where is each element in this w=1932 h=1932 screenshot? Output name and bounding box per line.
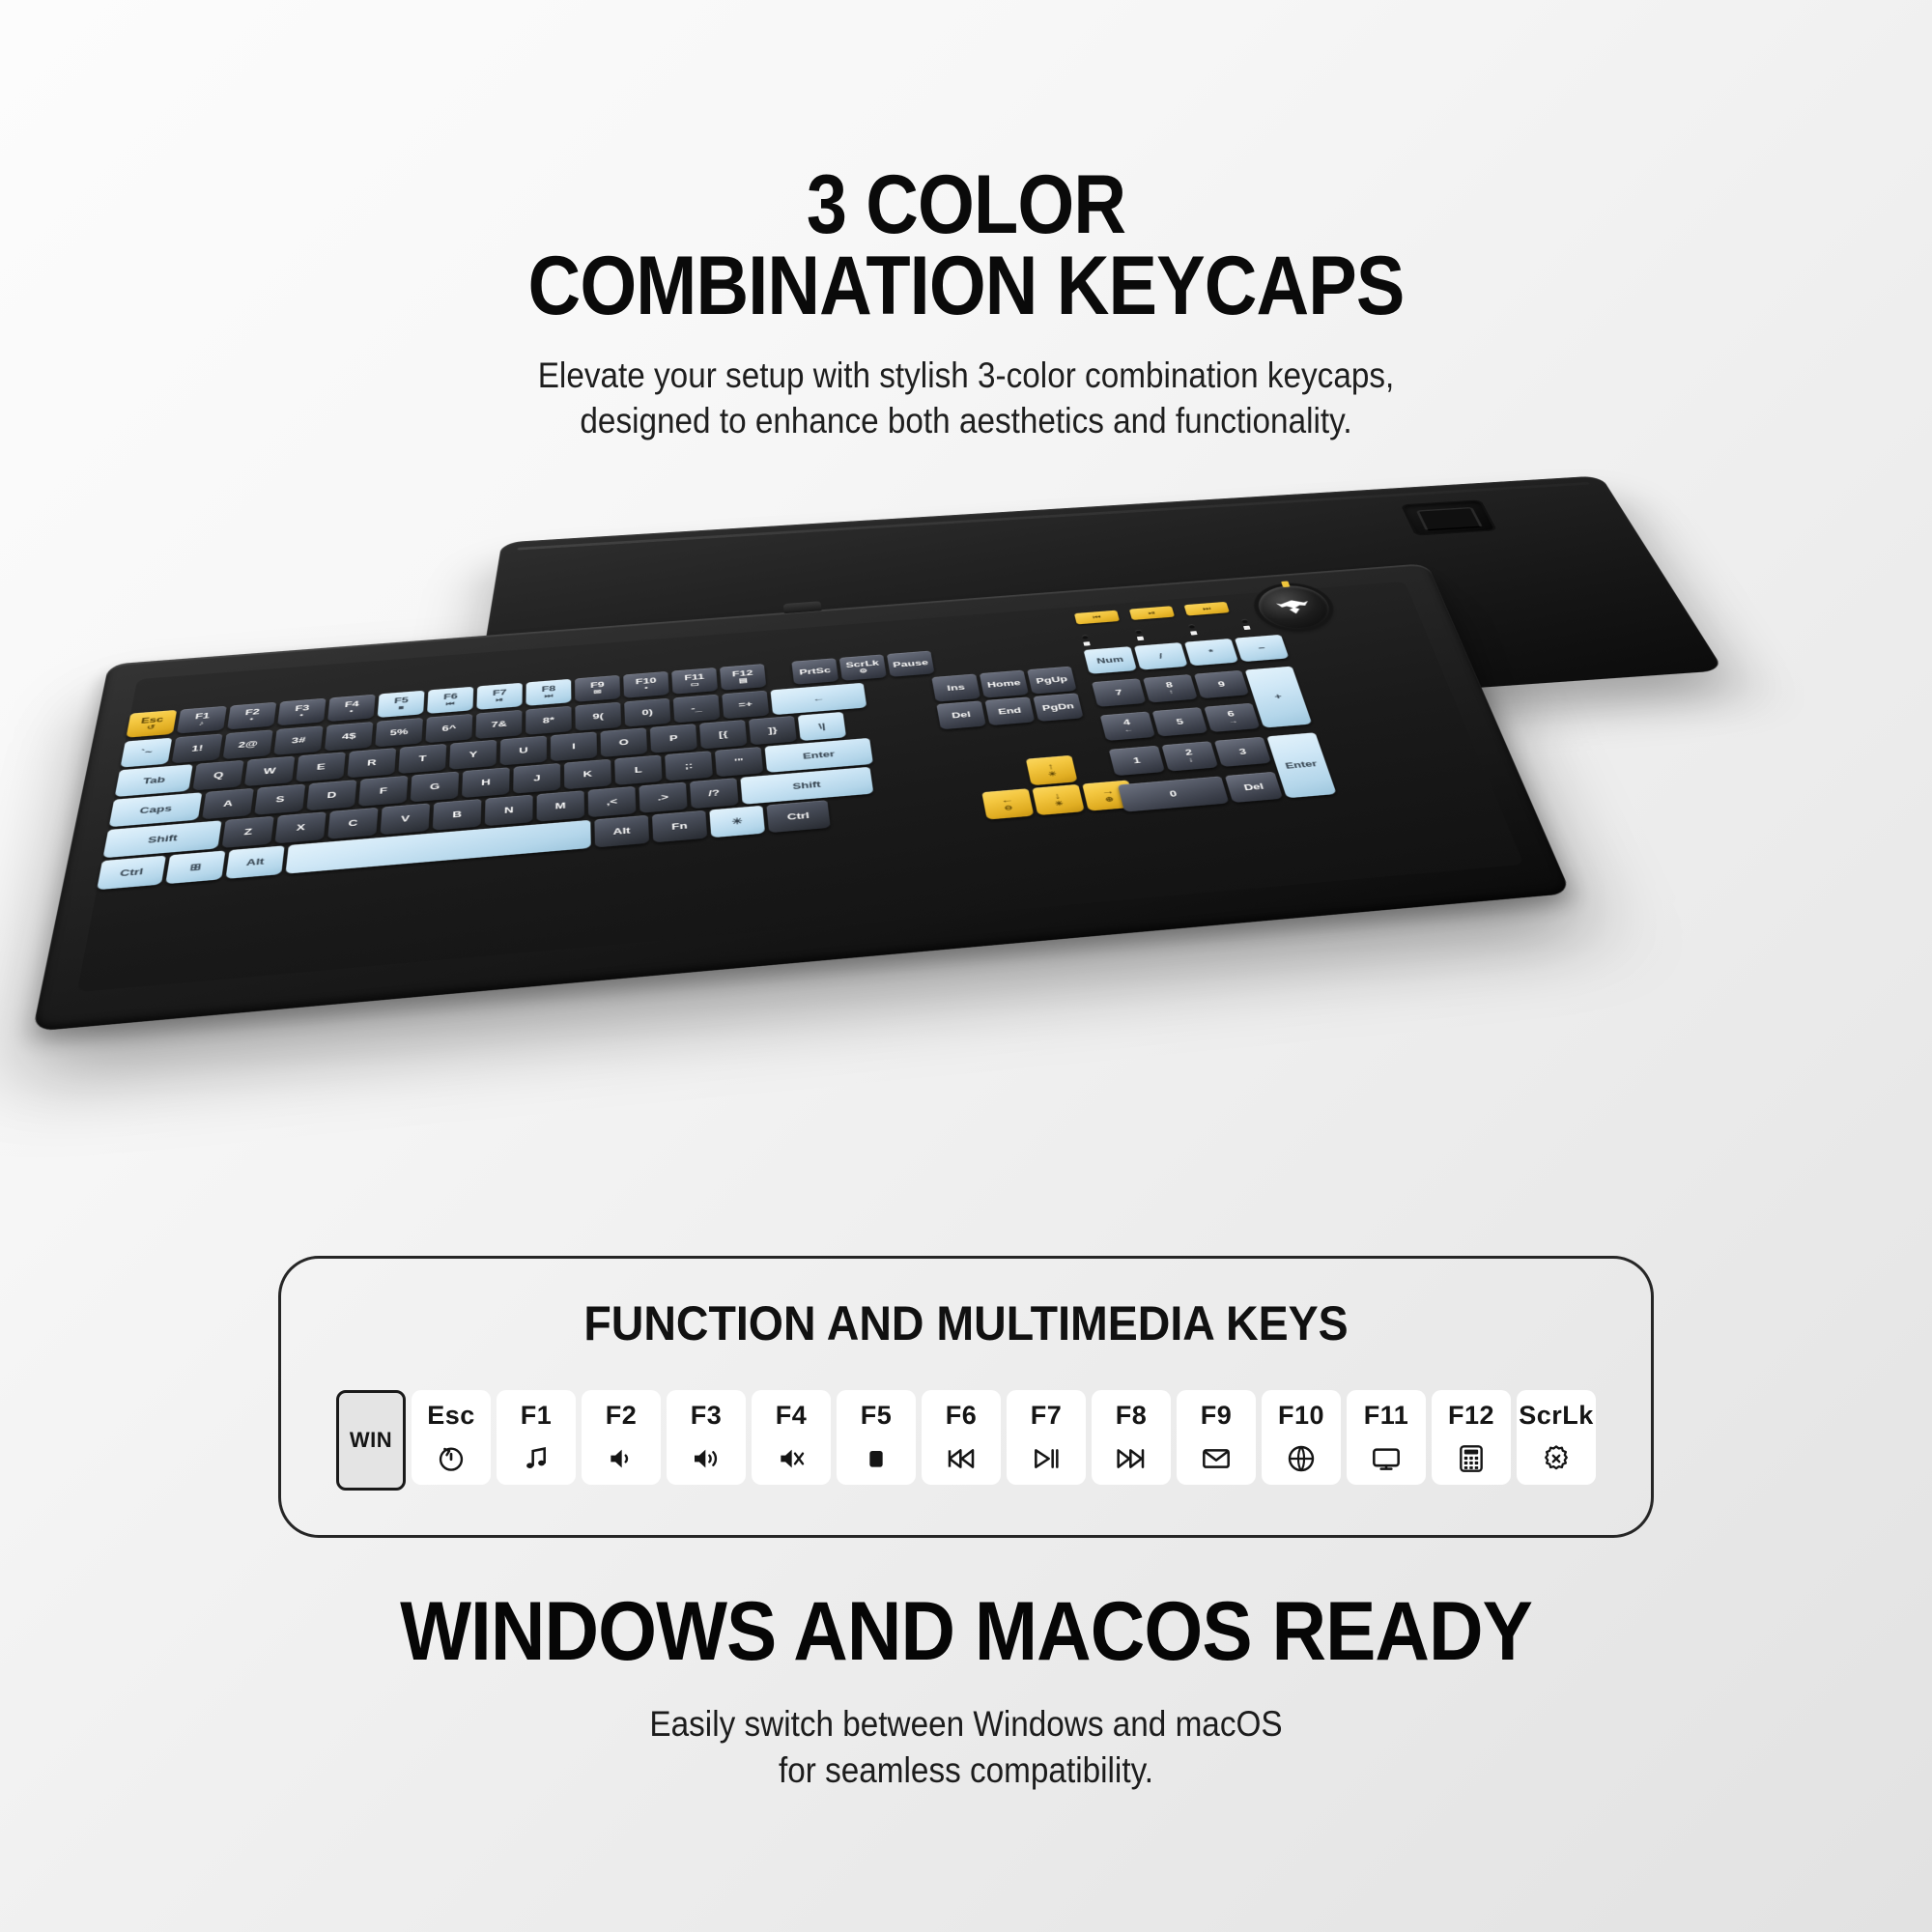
keycap-sublegend: ⚙	[859, 668, 867, 675]
led-scroll-label	[1190, 631, 1198, 636]
keycap-legend: /	[1158, 652, 1164, 660]
keycap-sublegend: ▤	[739, 678, 749, 685]
led-caps-label	[1137, 637, 1145, 641]
keycap-num-0[interactable]: `~	[121, 738, 173, 768]
keycap-f2[interactable]: F2•	[227, 702, 276, 730]
page-title: 3 COLOR COMBINATION KEYCAPS	[116, 164, 1816, 327]
keycap-legend: =+	[738, 700, 753, 710]
keycap-num-6[interactable]: 6^	[425, 714, 472, 743]
keycap-sublegend: ⏮	[446, 701, 455, 708]
keycap-num-4[interactable]: 4$	[325, 722, 373, 751]
keycap-legend: PrtSc	[799, 667, 831, 677]
footer-subtitle: Easily switch between Windows and macOS …	[97, 1701, 1835, 1794]
keycap-tab-7[interactable]: U	[500, 736, 547, 766]
keycap-f3[interactable]: F3•	[277, 698, 326, 726]
keycap-sublegend: ▭	[691, 682, 700, 689]
keycap-num-8[interactable]: 8*	[526, 706, 572, 735]
fn-key-label: F10	[1278, 1401, 1324, 1431]
fn-key-esc[interactable]: Esc	[412, 1390, 491, 1485]
keycap-sublegend: ■	[398, 705, 404, 712]
fn-key-f8[interactable]: F8	[1092, 1390, 1171, 1485]
keycap-sublegend: ✉	[593, 690, 601, 696]
music-note-icon	[520, 1442, 553, 1475]
keycap-f11[interactable]: F11▭	[671, 668, 718, 695]
keycap-legend: *	[1207, 648, 1214, 656]
keycap-f6[interactable]: F6⏮	[427, 687, 473, 714]
fn-key-f9[interactable]: F9	[1177, 1390, 1256, 1485]
product-image: ⏮ ⏯ ⏭ Esc↺F1♪F2•F3•F4•F5■F6⏮F7⏯F8⏭F9✉F10…	[126, 415, 1826, 1198]
fn-key-f5[interactable]: F5	[837, 1390, 916, 1485]
keycap-num-7[interactable]: 7&	[475, 710, 522, 739]
keycap-nav-ins[interactable]: Ins	[931, 674, 980, 702]
fn-key-f7[interactable]: F7	[1007, 1390, 1086, 1485]
keycap-num-12[interactable]: =+	[722, 691, 769, 720]
keycap-num-11[interactable]: -_	[673, 695, 721, 724]
keycap-nav-pgdn[interactable]: PgDn	[1033, 693, 1083, 722]
fn-key-f2[interactable]: F2	[582, 1390, 661, 1485]
keycap-f10[interactable]: F10•	[623, 671, 669, 698]
keycap-legend: 9(	[592, 712, 604, 721]
fn-key-f6[interactable]: F6	[922, 1390, 1001, 1485]
keycap-legend: [{	[719, 730, 728, 739]
keycap-sublegend: •	[299, 713, 303, 720]
keycap-sublegend: ♪	[198, 721, 204, 727]
fn-key-label: F3	[691, 1401, 723, 1431]
fn-key-label: F5	[861, 1401, 893, 1431]
mail-icon	[1200, 1442, 1233, 1475]
keycap-legend: T	[418, 754, 427, 763]
keycap-f4[interactable]: F4•	[327, 695, 376, 722]
keycap-legend: 3	[1237, 748, 1247, 756]
keycap-pause[interactable]: Pause	[887, 651, 935, 677]
keycap-f1[interactable]: F1♪	[177, 706, 227, 734]
keycap-legend: I	[572, 742, 576, 751]
fn-key-label: F7	[1031, 1401, 1063, 1431]
keycap-legend: 0)	[641, 708, 653, 717]
led-num-label	[1083, 641, 1091, 646]
keycap-legend: O	[618, 738, 628, 748]
fn-key-label: F12	[1448, 1401, 1494, 1431]
volume-down-icon	[605, 1442, 638, 1475]
fn-key-f4[interactable]: F4	[752, 1390, 831, 1485]
keycap-legend: −	[1257, 644, 1266, 653]
fn-key-label: F1	[521, 1401, 553, 1431]
fn-key-win[interactable]: WIN	[336, 1390, 406, 1491]
keycap-numpad-3[interactable]: 3	[1214, 737, 1271, 767]
keycap-tab-6[interactable]: Y	[449, 740, 497, 770]
keycap-num-9[interactable]: 9(	[575, 702, 621, 731]
keycap-f12[interactable]: F12▤	[720, 664, 766, 691]
keycap-legend: 9	[1217, 680, 1226, 689]
keycap-legend: 5%	[390, 727, 409, 737]
monitor-icon	[1370, 1442, 1403, 1475]
keycap-tab-8[interactable]: I	[551, 731, 597, 761]
keycap-legend: 8*	[543, 716, 554, 724]
keycap-numpad-9[interactable]: 9	[1194, 670, 1249, 698]
fn-key-label: ScrLk	[1519, 1401, 1594, 1431]
keycap-numpad-6[interactable]: 6→	[1204, 703, 1260, 732]
led-win-label	[1243, 626, 1251, 631]
keycap-legend: PgUp	[1036, 675, 1068, 686]
keycap-scrlk[interactable]: ScrLk⚙	[839, 654, 887, 680]
keycap-legend: Ins	[947, 683, 966, 693]
keycap-tab-9[interactable]: O	[600, 727, 647, 757]
fn-key-f10[interactable]: F10	[1262, 1390, 1341, 1485]
fn-key-label: F11	[1364, 1401, 1409, 1431]
keycap-tab-11[interactable]: [{	[699, 720, 747, 749]
function-key-row: WINEscF1F2F3F4F5F6F7F8F9F10F11F12ScrLk	[281, 1390, 1651, 1491]
keycap-legend: `~	[140, 748, 154, 757]
keycap-sublegend: ←	[1123, 727, 1134, 734]
keyboard-foot-right	[1401, 499, 1498, 536]
fn-key-label: F9	[1201, 1401, 1233, 1431]
keycap-legend: PgDn	[1041, 702, 1075, 713]
keycap-tab-12[interactable]: ]}	[749, 716, 797, 745]
keycap-legend: 3#	[291, 736, 306, 746]
volume-mute-icon	[775, 1442, 808, 1475]
keycap-numpad-8[interactable]: 8↑	[1143, 674, 1198, 702]
keycap-sublegend: ↓	[1188, 757, 1195, 764]
keycap-legend: 7	[1114, 689, 1122, 697]
keycap-legend: 6^	[441, 724, 456, 733]
keycap-sublegend: ⏯	[496, 697, 503, 704]
keycap-numpad-/[interactable]: /	[1134, 642, 1188, 670]
keycap-f8[interactable]: F8⏭	[526, 679, 571, 706]
fn-key-label: WIN	[350, 1428, 392, 1453]
keycap-legend: Home	[986, 679, 1021, 690]
keycap-numpad-4[interactable]: 4←	[1100, 711, 1155, 741]
keycap-num-3[interactable]: 3#	[273, 725, 323, 755]
keycap-f7[interactable]: F7⏯	[476, 683, 522, 710]
fn-key-label: F8	[1116, 1401, 1148, 1431]
keycap-legend: ]}	[768, 725, 778, 734]
keycap-numpad-num[interactable]: Num	[1084, 646, 1137, 674]
keycap-esc[interactable]: Esc↺	[126, 710, 177, 738]
fn-key-f12[interactable]: F12	[1432, 1390, 1511, 1485]
previous-track-icon	[945, 1442, 978, 1475]
keycap-legend: P	[669, 734, 678, 743]
keycap-legend: R	[367, 758, 377, 768]
play-pause-icon	[1030, 1442, 1063, 1475]
keycap-numpad-2[interactable]: 2↓	[1161, 741, 1218, 771]
keycap-legend: +	[1273, 693, 1283, 701]
keycap-legend: 5	[1176, 718, 1184, 726]
keycap-num-2[interactable]: 2@	[223, 729, 273, 759]
gear-lock-icon	[1540, 1442, 1573, 1475]
keycap-legend: ←	[811, 695, 825, 703]
keycap-f9[interactable]: F9✉	[575, 675, 620, 702]
hero-section: 3 COLOR COMBINATION KEYCAPS Elevate your…	[0, 164, 1932, 443]
calculator-icon	[1455, 1442, 1488, 1475]
fn-key-label: F6	[946, 1401, 978, 1431]
keycap-legend: 7&	[491, 720, 507, 729]
keycap-legend: Y	[469, 750, 477, 759]
keycap-num-5[interactable]: 5%	[375, 718, 423, 747]
keycap-num-1[interactable]: 1!	[172, 734, 223, 764]
keycap-sublegend: ⏭	[545, 694, 554, 700]
keycap-legend: 4$	[342, 731, 356, 741]
fn-key-label: Esc	[427, 1401, 475, 1431]
keycap-nav-pgup[interactable]: PgUp	[1027, 667, 1077, 695]
fn-key-scrlk[interactable]: ScrLk	[1517, 1390, 1596, 1485]
keycap-tab-13[interactable]: \|	[798, 712, 846, 741]
footer-section: WINDOWS AND MACOS READY Easily switch be…	[0, 1584, 1932, 1794]
keycap-legend: U	[519, 746, 527, 755]
keycap-numpad-5[interactable]: 5	[1152, 707, 1208, 736]
keycap-sublegend: ↺	[146, 724, 156, 731]
keycap-legend: Enter	[803, 750, 836, 761]
volume-up-icon	[690, 1442, 723, 1475]
fn-key-f3[interactable]: F3	[667, 1390, 746, 1485]
footer-title: WINDOWS AND MACOS READY	[87, 1584, 1845, 1680]
keycap-legend: 2@	[238, 739, 258, 749]
fn-key-f1[interactable]: F1	[497, 1390, 576, 1485]
keycap-prtsc[interactable]: PrtSc	[791, 658, 838, 685]
keycap-sublegend: •	[644, 686, 648, 693]
keycap-nav-del[interactable]: Del	[936, 700, 985, 729]
next-track-icon	[1115, 1442, 1148, 1475]
fn-key-label: F4	[776, 1401, 808, 1431]
function-panel-title: FUNCTION AND MULTIMEDIA KEYS	[329, 1295, 1604, 1351]
keycap-sublegend: •	[249, 717, 253, 724]
globe-icon	[1285, 1442, 1318, 1475]
keycap-legend: '"	[734, 757, 744, 767]
keycap-sublegend: •	[349, 709, 353, 716]
keycap-legend: Del	[951, 710, 971, 720]
keycap-num-10[interactable]: 0)	[624, 698, 670, 727]
stop-square-icon	[860, 1442, 893, 1475]
keycap-sublegend: →	[1228, 719, 1239, 725]
keycap-numpad-−[interactable]: −	[1235, 635, 1290, 662]
keycap-legend: 1	[1132, 756, 1141, 765]
keycap-sublegend: ↑	[1168, 690, 1175, 696]
keycap-tab-10[interactable]: P	[650, 724, 697, 753]
function-keys-panel: FUNCTION AND MULTIMEDIA KEYS WINEscF1F2F…	[278, 1256, 1654, 1538]
keycap-legend: Num	[1096, 655, 1124, 665]
keycap-f5[interactable]: F5■	[378, 691, 425, 718]
refresh-power-icon	[435, 1442, 468, 1475]
fn-key-label: F2	[606, 1401, 638, 1431]
keycap-legend: Pause	[893, 659, 929, 669]
keycap-legend: End	[998, 706, 1023, 716]
keycap-legend: 1!	[191, 744, 204, 753]
keycap-legend: \|	[818, 722, 826, 730]
keycap-nav-end[interactable]: End	[984, 696, 1035, 725]
fn-key-f11[interactable]: F11	[1347, 1390, 1426, 1485]
keycap-legend: -_	[691, 704, 702, 713]
keycap-numpad-7[interactable]: 7	[1092, 678, 1146, 707]
keyboard-main-unit: ⏮ ⏯ ⏭ Esc↺F1♪F2•F3•F4•F5■F6⏮F7⏯F8⏭F9✉F10…	[77, 582, 1524, 993]
keycap-numpad-*[interactable]: *	[1184, 639, 1238, 666]
keycap-nav-home[interactable]: Home	[980, 670, 1029, 698]
